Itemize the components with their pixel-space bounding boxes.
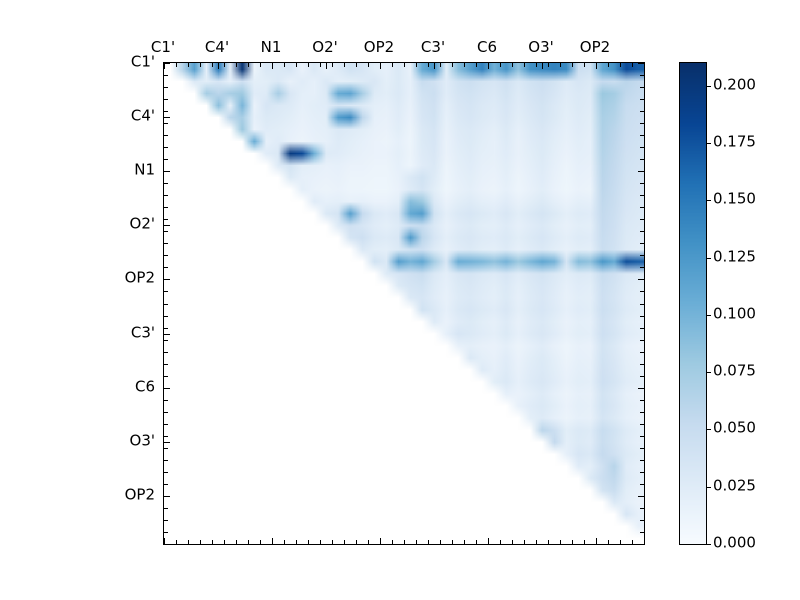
y-tick-label: N1 bbox=[134, 163, 155, 178]
y-tick-mark bbox=[640, 219, 644, 220]
x-tick-mark bbox=[632, 63, 633, 67]
y-tick-mark bbox=[640, 87, 644, 88]
y-tick-mark bbox=[164, 376, 168, 377]
y-tick-mark bbox=[640, 448, 644, 449]
colorbar-tick-mark bbox=[706, 86, 711, 87]
y-tick-mark-major bbox=[164, 496, 170, 497]
y-tick-mark bbox=[640, 231, 644, 232]
figure-canvas: C1'C4'N1O2'OP2C3'C6O3'OP2 C1'C4'N1O2'OP2… bbox=[0, 0, 800, 600]
heatmap-axes bbox=[163, 62, 645, 545]
y-tick-mark bbox=[164, 472, 168, 473]
y-tick-mark bbox=[164, 424, 168, 425]
y-tick-mark bbox=[638, 496, 644, 497]
y-tick-mark bbox=[164, 340, 168, 341]
y-tick-mark bbox=[164, 436, 168, 437]
x-tick-mark bbox=[572, 63, 573, 67]
y-tick-mark bbox=[164, 159, 168, 160]
colorbar-tick-label: 0.125 bbox=[713, 249, 756, 264]
y-tick-mark bbox=[164, 448, 168, 449]
heatmap-image bbox=[164, 63, 644, 544]
y-tick-mark bbox=[640, 304, 644, 305]
y-tick-mark bbox=[640, 159, 644, 160]
y-tick-mark bbox=[640, 123, 644, 124]
x-tick-mark bbox=[380, 538, 381, 544]
y-tick-mark bbox=[164, 207, 168, 208]
y-tick-mark bbox=[164, 135, 168, 136]
x-tick-mark bbox=[248, 540, 249, 544]
y-tick-mark bbox=[640, 364, 644, 365]
x-tick-mark bbox=[464, 63, 465, 67]
y-tick-mark-major bbox=[164, 388, 170, 389]
y-tick-mark bbox=[640, 75, 644, 76]
y-tick-mark bbox=[164, 87, 168, 88]
y-tick-mark bbox=[164, 75, 168, 76]
colorbar-tick-label: 0.050 bbox=[713, 421, 756, 436]
x-tick-mark bbox=[500, 63, 501, 67]
x-tick-mark bbox=[440, 63, 441, 67]
y-tick-mark bbox=[164, 291, 168, 292]
x-tick-mark bbox=[224, 63, 225, 67]
x-tick-mark bbox=[560, 63, 561, 67]
x-tick-mark bbox=[368, 540, 369, 544]
y-tick-mark-major bbox=[164, 334, 170, 335]
colorbar-tick-label: 0.075 bbox=[713, 364, 756, 379]
x-tick-mark-major bbox=[488, 63, 489, 69]
x-tick-mark bbox=[200, 540, 201, 544]
y-tick-mark bbox=[640, 147, 644, 148]
x-tick-label: C3' bbox=[421, 40, 445, 55]
y-tick-mark bbox=[640, 328, 644, 329]
x-tick-mark-major bbox=[596, 63, 597, 69]
y-tick-mark-major bbox=[164, 117, 170, 118]
y-tick-mark bbox=[164, 195, 168, 196]
x-tick-mark bbox=[176, 540, 177, 544]
x-tick-mark bbox=[632, 540, 633, 544]
x-tick-mark bbox=[188, 540, 189, 544]
y-tick-mark bbox=[640, 243, 644, 244]
colorbar-tick-label: 0.150 bbox=[713, 192, 756, 207]
y-tick-mark bbox=[640, 207, 644, 208]
x-tick-mark bbox=[356, 63, 357, 67]
x-tick-mark bbox=[404, 540, 405, 544]
x-tick-mark bbox=[368, 63, 369, 67]
y-tick-mark bbox=[164, 484, 168, 485]
x-tick-mark bbox=[260, 63, 261, 67]
x-tick-mark bbox=[248, 63, 249, 67]
x-tick-mark bbox=[284, 540, 285, 544]
x-tick-label: C4' bbox=[205, 40, 229, 55]
x-tick-label: N1 bbox=[261, 40, 282, 55]
y-tick-mark bbox=[640, 183, 644, 184]
x-tick-mark bbox=[620, 63, 621, 67]
x-tick-mark-major bbox=[434, 63, 435, 69]
x-tick-mark bbox=[404, 63, 405, 67]
y-tick-mark bbox=[640, 316, 644, 317]
y-tick-label: C3' bbox=[131, 325, 155, 340]
y-tick-mark bbox=[638, 171, 644, 172]
colorbar-tick-mark bbox=[706, 429, 711, 430]
x-tick-mark bbox=[500, 540, 501, 544]
x-tick-mark bbox=[464, 540, 465, 544]
y-tick-mark bbox=[640, 520, 644, 521]
y-tick-mark bbox=[164, 364, 168, 365]
y-tick-mark bbox=[164, 520, 168, 521]
y-tick-label: O2' bbox=[130, 217, 155, 232]
x-tick-label: OP2 bbox=[364, 40, 394, 55]
x-tick-mark bbox=[224, 540, 225, 544]
x-tick-mark bbox=[176, 63, 177, 67]
colorbar-tick-mark bbox=[706, 258, 711, 259]
colorbar-tick-label: 0.200 bbox=[713, 77, 756, 92]
y-tick-mark bbox=[640, 255, 644, 256]
x-tick-mark bbox=[476, 540, 477, 544]
x-tick-mark-major bbox=[380, 63, 381, 69]
x-tick-mark bbox=[356, 540, 357, 544]
y-tick-mark bbox=[164, 532, 168, 533]
x-tick-mark bbox=[188, 63, 189, 67]
colorbar-tick-mark bbox=[706, 372, 711, 373]
x-tick-mark bbox=[272, 538, 273, 544]
x-tick-mark bbox=[236, 540, 237, 544]
y-tick-mark bbox=[164, 219, 168, 220]
y-tick-mark-major bbox=[164, 63, 170, 64]
x-tick-label: C6 bbox=[477, 40, 497, 55]
y-tick-mark bbox=[640, 340, 644, 341]
y-tick-mark bbox=[164, 183, 168, 184]
y-tick-mark bbox=[640, 291, 644, 292]
y-tick-mark bbox=[640, 135, 644, 136]
x-tick-mark bbox=[512, 63, 513, 67]
colorbar-tick-label: 0.000 bbox=[713, 536, 756, 551]
y-tick-mark bbox=[164, 267, 168, 268]
x-tick-mark bbox=[620, 540, 621, 544]
x-tick-mark bbox=[212, 540, 213, 544]
x-tick-label: O3' bbox=[528, 40, 553, 55]
y-tick-mark-major bbox=[164, 225, 170, 226]
y-tick-label: C1' bbox=[131, 55, 155, 70]
y-tick-mark bbox=[164, 304, 168, 305]
x-tick-mark bbox=[524, 63, 525, 67]
y-tick-mark bbox=[164, 328, 168, 329]
y-tick-mark bbox=[164, 243, 168, 244]
colorbar-tick-label: 0.025 bbox=[713, 478, 756, 493]
y-tick-mark bbox=[164, 231, 168, 232]
x-tick-mark bbox=[608, 63, 609, 67]
x-tick-mark-major bbox=[272, 63, 273, 69]
x-tick-mark bbox=[344, 540, 345, 544]
x-tick-mark bbox=[284, 63, 285, 67]
y-tick-mark bbox=[638, 63, 644, 64]
y-tick-mark bbox=[640, 508, 644, 509]
y-tick-mark bbox=[164, 400, 168, 401]
x-tick-mark-major bbox=[218, 63, 219, 69]
x-tick-mark bbox=[476, 63, 477, 67]
x-tick-mark bbox=[584, 63, 585, 67]
y-tick-mark bbox=[638, 279, 644, 280]
x-tick-mark bbox=[332, 63, 333, 67]
y-tick-mark bbox=[640, 484, 644, 485]
x-tick-mark bbox=[320, 540, 321, 544]
x-tick-mark bbox=[608, 540, 609, 544]
x-tick-mark bbox=[200, 63, 201, 67]
y-tick-mark bbox=[640, 267, 644, 268]
y-tick-mark-major bbox=[164, 279, 170, 280]
y-tick-mark bbox=[164, 99, 168, 100]
x-tick-mark bbox=[308, 63, 309, 67]
y-tick-mark bbox=[164, 316, 168, 317]
y-tick-mark bbox=[640, 195, 644, 196]
x-tick-mark bbox=[560, 540, 561, 544]
x-tick-mark-major bbox=[542, 63, 543, 69]
x-tick-mark bbox=[548, 63, 549, 67]
x-tick-mark bbox=[452, 63, 453, 67]
x-tick-mark bbox=[308, 540, 309, 544]
y-tick-mark-major bbox=[164, 171, 170, 172]
x-tick-mark bbox=[440, 540, 441, 544]
y-tick-mark bbox=[640, 532, 644, 533]
y-tick-mark bbox=[640, 352, 644, 353]
y-tick-mark bbox=[640, 111, 644, 112]
y-tick-label: OP2 bbox=[125, 487, 155, 502]
x-tick-mark bbox=[548, 540, 549, 544]
x-tick-label: OP2 bbox=[580, 40, 610, 55]
x-tick-mark bbox=[572, 540, 573, 544]
x-tick-mark bbox=[536, 63, 537, 67]
y-tick-mark bbox=[164, 111, 168, 112]
x-tick-mark bbox=[524, 540, 525, 544]
x-tick-mark bbox=[260, 540, 261, 544]
y-tick-label: C6 bbox=[135, 379, 155, 394]
x-tick-mark bbox=[392, 63, 393, 67]
x-tick-mark bbox=[320, 63, 321, 67]
x-tick-mark bbox=[296, 63, 297, 67]
colorbar-tick-label: 0.175 bbox=[713, 135, 756, 150]
y-tick-mark bbox=[640, 99, 644, 100]
x-tick-mark bbox=[596, 538, 597, 544]
x-tick-mark bbox=[428, 540, 429, 544]
colorbar-tick-mark bbox=[706, 315, 711, 316]
y-tick-mark bbox=[640, 424, 644, 425]
x-tick-mark bbox=[332, 540, 333, 544]
y-tick-mark bbox=[164, 508, 168, 509]
x-tick-mark bbox=[584, 540, 585, 544]
colorbar-tick-mark bbox=[706, 200, 711, 201]
y-tick-mark bbox=[164, 255, 168, 256]
x-tick-mark bbox=[416, 540, 417, 544]
x-tick-mark bbox=[428, 63, 429, 67]
y-tick-mark bbox=[640, 412, 644, 413]
x-tick-label: O2' bbox=[312, 40, 337, 55]
y-tick-mark bbox=[640, 472, 644, 473]
y-tick-mark bbox=[164, 123, 168, 124]
colorbar-gradient bbox=[680, 63, 706, 544]
colorbar-tick-label: 0.100 bbox=[713, 306, 756, 321]
y-tick-mark bbox=[164, 352, 168, 353]
x-tick-mark bbox=[164, 538, 165, 544]
x-tick-mark bbox=[512, 540, 513, 544]
y-tick-mark bbox=[164, 147, 168, 148]
x-tick-mark bbox=[212, 63, 213, 67]
x-tick-mark bbox=[344, 63, 345, 67]
x-tick-mark bbox=[236, 63, 237, 67]
x-tick-mark bbox=[416, 63, 417, 67]
y-tick-mark bbox=[164, 412, 168, 413]
x-tick-mark bbox=[488, 538, 489, 544]
y-tick-mark bbox=[164, 460, 168, 461]
colorbar-tick-mark bbox=[706, 544, 711, 545]
y-tick-mark bbox=[640, 436, 644, 437]
colorbar-axes bbox=[679, 62, 707, 545]
colorbar-tick-mark bbox=[706, 143, 711, 144]
y-tick-label: C4' bbox=[131, 109, 155, 124]
y-tick-mark-major bbox=[164, 442, 170, 443]
y-tick-mark bbox=[640, 400, 644, 401]
x-tick-mark bbox=[296, 540, 297, 544]
x-tick-mark bbox=[392, 540, 393, 544]
x-tick-mark bbox=[536, 540, 537, 544]
x-tick-mark bbox=[452, 540, 453, 544]
y-tick-mark bbox=[638, 388, 644, 389]
colorbar-tick-mark bbox=[706, 487, 711, 488]
y-tick-label: OP2 bbox=[125, 271, 155, 286]
y-tick-mark bbox=[640, 460, 644, 461]
y-tick-label: O3' bbox=[130, 433, 155, 448]
x-tick-mark-major bbox=[326, 63, 327, 69]
y-tick-mark bbox=[640, 376, 644, 377]
